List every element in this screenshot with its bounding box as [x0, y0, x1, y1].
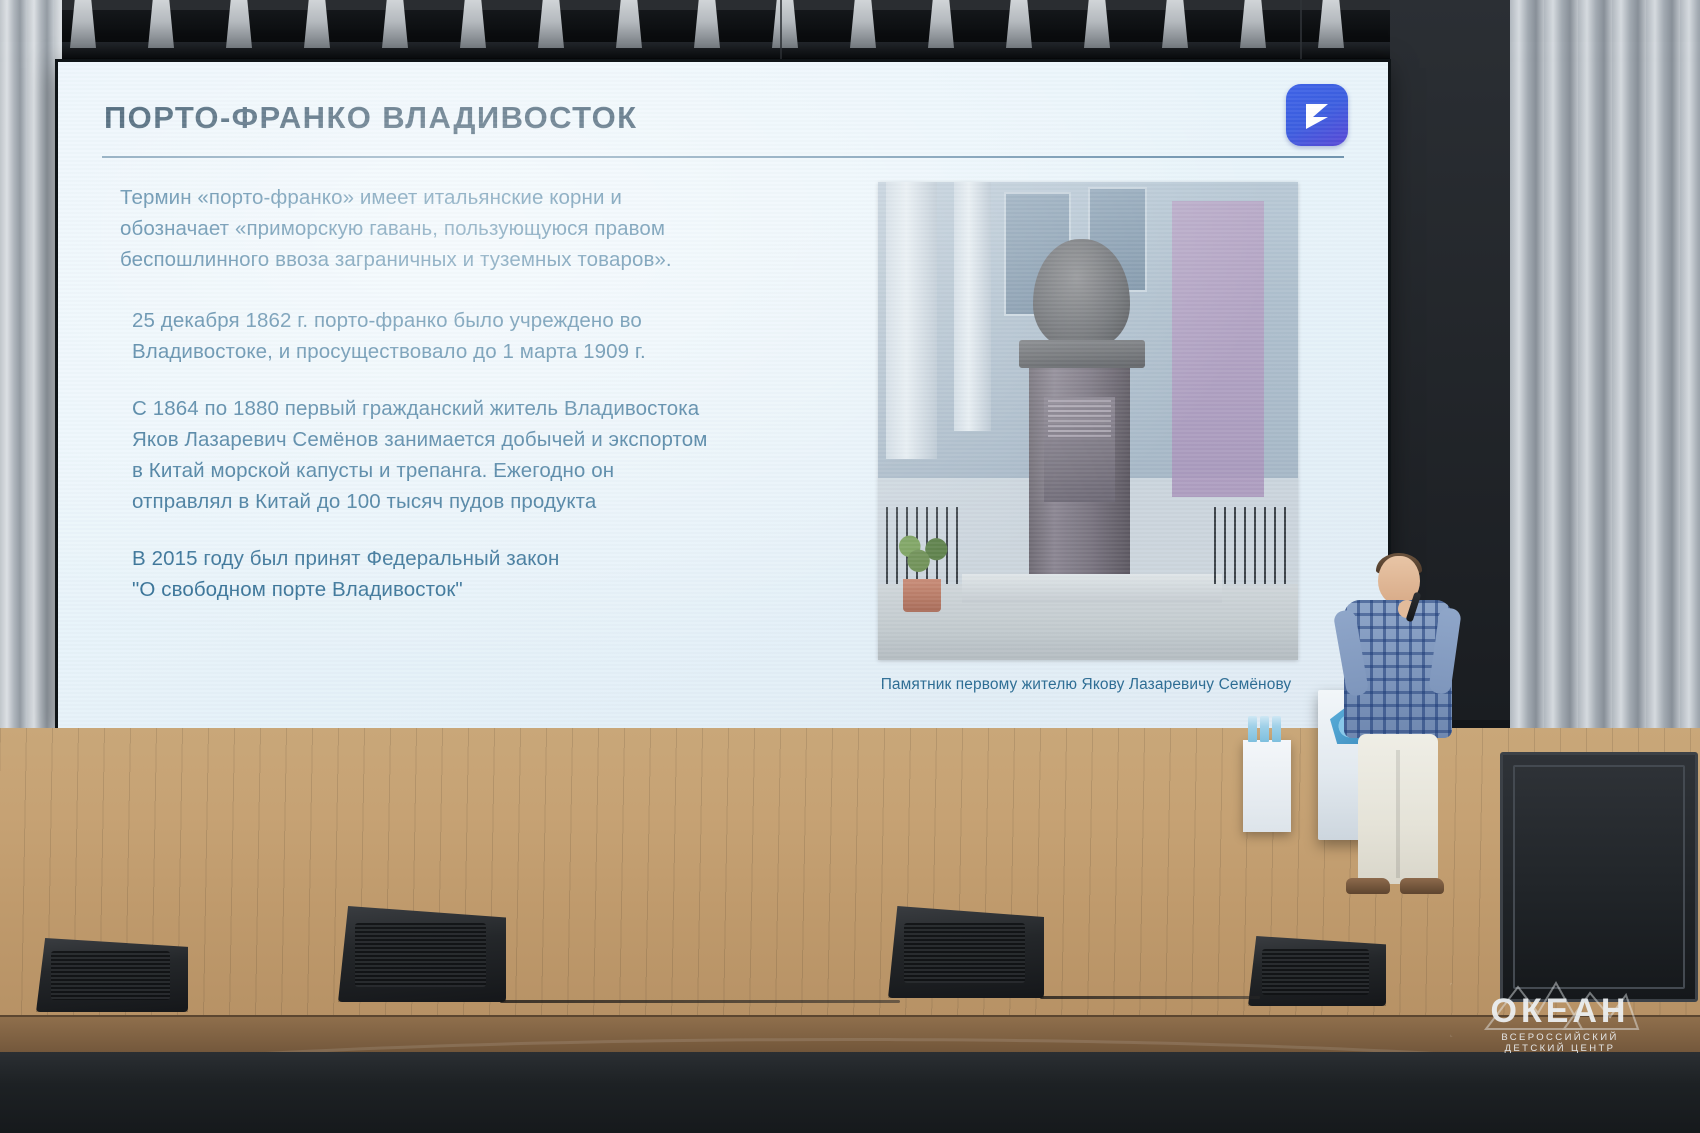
slide-text-column: Термин «порто-франко» имеет итальянские …	[102, 182, 802, 694]
photo-bust-sculpture	[1033, 239, 1130, 349]
slide-photo-column: Памятник первому жителю Якову Лазаревичу…	[802, 182, 1322, 694]
stage-curtain-right	[1510, 0, 1700, 760]
paragraph-semenov: С 1864 по 1880 первый гражданский житель…	[120, 393, 802, 517]
paragraph-definition: Термин «порто-франко» имеет итальянские …	[120, 182, 802, 275]
presenter-shoe	[1400, 878, 1444, 894]
watermark-subtitle-2: ДЕТСКИЙ ЦЕНТР	[1450, 1043, 1670, 1054]
conference-hall-photo: ПОРТО-ФРАНКО ВЛАДИВОСТОК Термин «порто-ф…	[0, 0, 1700, 1133]
stage-lamp	[1318, 0, 1344, 48]
stage-lamp	[928, 0, 954, 48]
stage-monitor-speaker	[888, 906, 1044, 998]
stage-lamp	[304, 0, 330, 48]
stage-monitor-speaker	[338, 906, 506, 1002]
stage-lamp	[1006, 0, 1032, 48]
stage-lamp	[772, 0, 798, 48]
stage-lamp	[226, 0, 252, 48]
photo-column	[954, 182, 992, 431]
stage-lamp	[1162, 0, 1188, 48]
paragraph-federal-law: В 2015 году был принят Федеральный закон…	[120, 543, 802, 605]
presentation-slide: ПОРТО-ФРАНКО ВЛАДИВОСТОК Термин «порто-ф…	[58, 62, 1388, 730]
stage-lamp	[616, 0, 642, 48]
photo-step	[962, 574, 1222, 603]
stage-lamp	[148, 0, 174, 48]
photo-flower-pot	[903, 579, 941, 612]
water-bottle	[1248, 716, 1257, 742]
photo-bust-base	[1019, 340, 1145, 369]
photo-inscription-plaque	[1044, 397, 1115, 502]
title-divider	[102, 156, 1344, 158]
stage-lamp	[382, 0, 408, 48]
orchestra-pit-front	[0, 1052, 1700, 1133]
photo-plants	[895, 526, 954, 583]
stage-lamp	[538, 0, 564, 48]
stage-lamp	[850, 0, 876, 48]
projection-screen: ПОРТО-ФРАНКО ВЛАДИВОСТОК Термин «порто-ф…	[58, 62, 1388, 730]
side-table	[1243, 740, 1291, 832]
stage-lamp	[460, 0, 486, 48]
water-bottle	[1260, 716, 1269, 742]
stage-lamp	[1084, 0, 1110, 48]
floor-cable	[500, 1000, 900, 1003]
presenter-trousers	[1358, 734, 1438, 884]
stage-lamp	[70, 0, 96, 48]
rig-cable	[780, 0, 782, 62]
presenter-shoe	[1346, 878, 1390, 894]
photo-fence	[1214, 507, 1290, 583]
floor-cable	[1040, 996, 1260, 999]
mountain-peaks-icon	[1450, 983, 1670, 1037]
stage-lamp	[1240, 0, 1266, 48]
photo-caption: Памятник первому жителю Якову Лазаревичу…	[836, 676, 1336, 694]
stage-monitor-speaker	[36, 938, 188, 1012]
slide-title: ПОРТО-ФРАНКО ВЛАДИВОСТОК	[102, 100, 1344, 136]
stage-curtain-left	[0, 0, 62, 760]
photo-pillar	[1172, 201, 1264, 497]
photo-column	[886, 182, 936, 459]
slide-content: Термин «порто-франко» имеет итальянские …	[102, 182, 1344, 694]
paragraph-establishment: 25 декабря 1862 г. порто-франко было учр…	[120, 305, 802, 367]
rig-cable	[1300, 0, 1302, 62]
venue-watermark: ОКЕАН ВСЕРОССИЙСКИЙ ДЕТСКИЙ ЦЕНТР	[1450, 993, 1670, 1099]
stage-monitor-speaker	[1248, 936, 1386, 1006]
water-bottle	[1272, 716, 1281, 742]
presenter	[1338, 556, 1456, 900]
equipment-flight-case	[1500, 752, 1698, 1002]
monument-photo	[878, 182, 1298, 660]
brand-logo-icon	[1286, 84, 1348, 146]
stage-lamp	[694, 0, 720, 48]
